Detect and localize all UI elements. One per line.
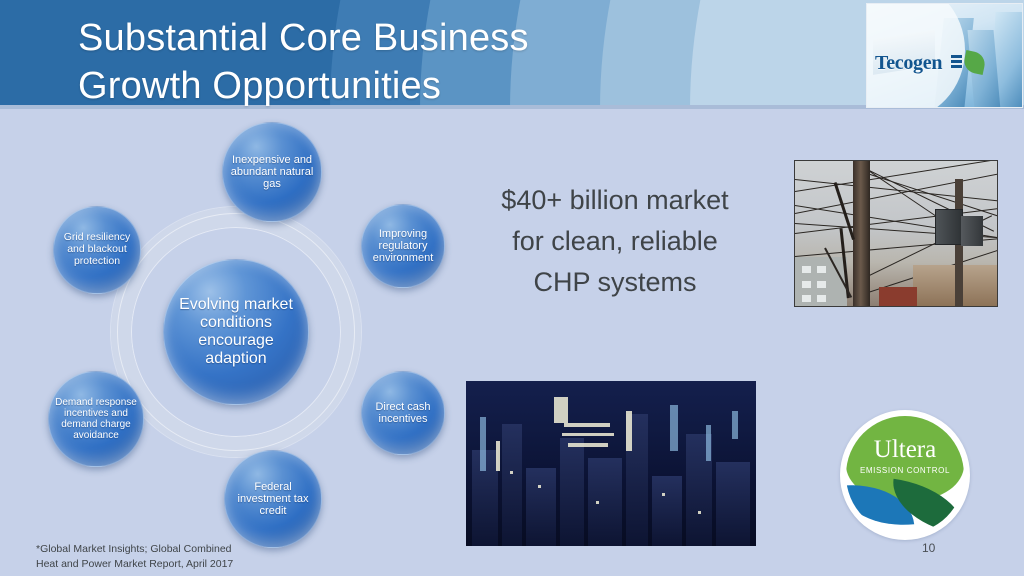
diagram-node-regulatory[interactable]: Improving regulatory environment [361,204,445,288]
page-title: Substantial Core Business Growth Opportu… [78,14,798,110]
ultera-logo: Ultera EMISSION CONTROL [840,410,970,540]
tecogen-wordmark: Tecogen [875,52,942,75]
diagram-node-tax-credit-label: Federal investment tax credit [225,481,321,518]
photo-city-night [466,381,756,546]
photo-power-lines-red-roof [879,287,917,306]
source-footnote-line-2: Heat and Power Market Report, April 2017 [36,557,366,572]
diagram-node-natural-gas[interactable]: Inexpensive and abundant natural gas [222,122,322,222]
ultera-tagline: EMISSION CONTROL [846,466,964,475]
photo-power-lines-building-left [795,257,847,306]
page-title-line-1: Substantial Core Business [78,14,798,62]
source-footnote-line-1: *Global Market Insights; Global Combined [36,542,366,557]
market-headline-line-1: $40+ billion market [450,180,780,221]
diagram-node-grid-resiliency[interactable]: Grid resiliency and blackout protection [53,206,141,294]
slide-number: 10 [922,541,935,555]
diagram-node-tax-credit[interactable]: Federal investment tax credit [224,450,322,548]
photo-power-lines-pole-main [853,161,870,306]
diagram-node-demand-response-label: Demand response incentives and demand ch… [49,397,143,442]
photo-power-lines-transformer-2 [961,216,983,246]
growth-drivers-diagram: Inexpensive and abundant natural gas Imp… [38,122,433,542]
diagram-hub[interactable]: Evolving market conditions encourage ada… [163,259,309,405]
market-headline-line-2: for clean, reliable [450,221,780,262]
market-headline-line-3: CHP systems [450,262,780,303]
photo-power-lines [794,160,998,307]
diagram-node-natural-gas-label: Inexpensive and abundant natural gas [223,154,321,191]
diagram-node-cash-incentives[interactable]: Direct cash incentives [361,371,445,455]
tecogen-bars-icon [951,55,962,70]
slide: Substantial Core Business Growth Opportu… [0,0,1024,576]
diagram-node-cash-incentives-label: Direct cash incentives [362,401,444,426]
ultera-wordmark: Ultera [846,436,964,464]
page-title-line-2: Growth Opportunities [78,62,798,110]
tecogen-logo: Tecogen [866,3,1023,108]
diagram-node-grid-resiliency-label: Grid resiliency and blackout protection [54,232,140,267]
market-headline: $40+ billion market for clean, reliable … [450,180,780,303]
ultera-logo-inner: Ultera EMISSION CONTROL [846,416,964,534]
diagram-hub-label: Evolving market conditions encourage ada… [164,296,308,368]
photo-power-lines-transformer-1 [935,209,963,245]
diagram-node-regulatory-label: Improving regulatory environment [362,228,444,265]
source-footnote: *Global Market Insights; Global Combined… [36,542,366,572]
diagram-node-demand-response[interactable]: Demand response incentives and demand ch… [48,371,144,467]
